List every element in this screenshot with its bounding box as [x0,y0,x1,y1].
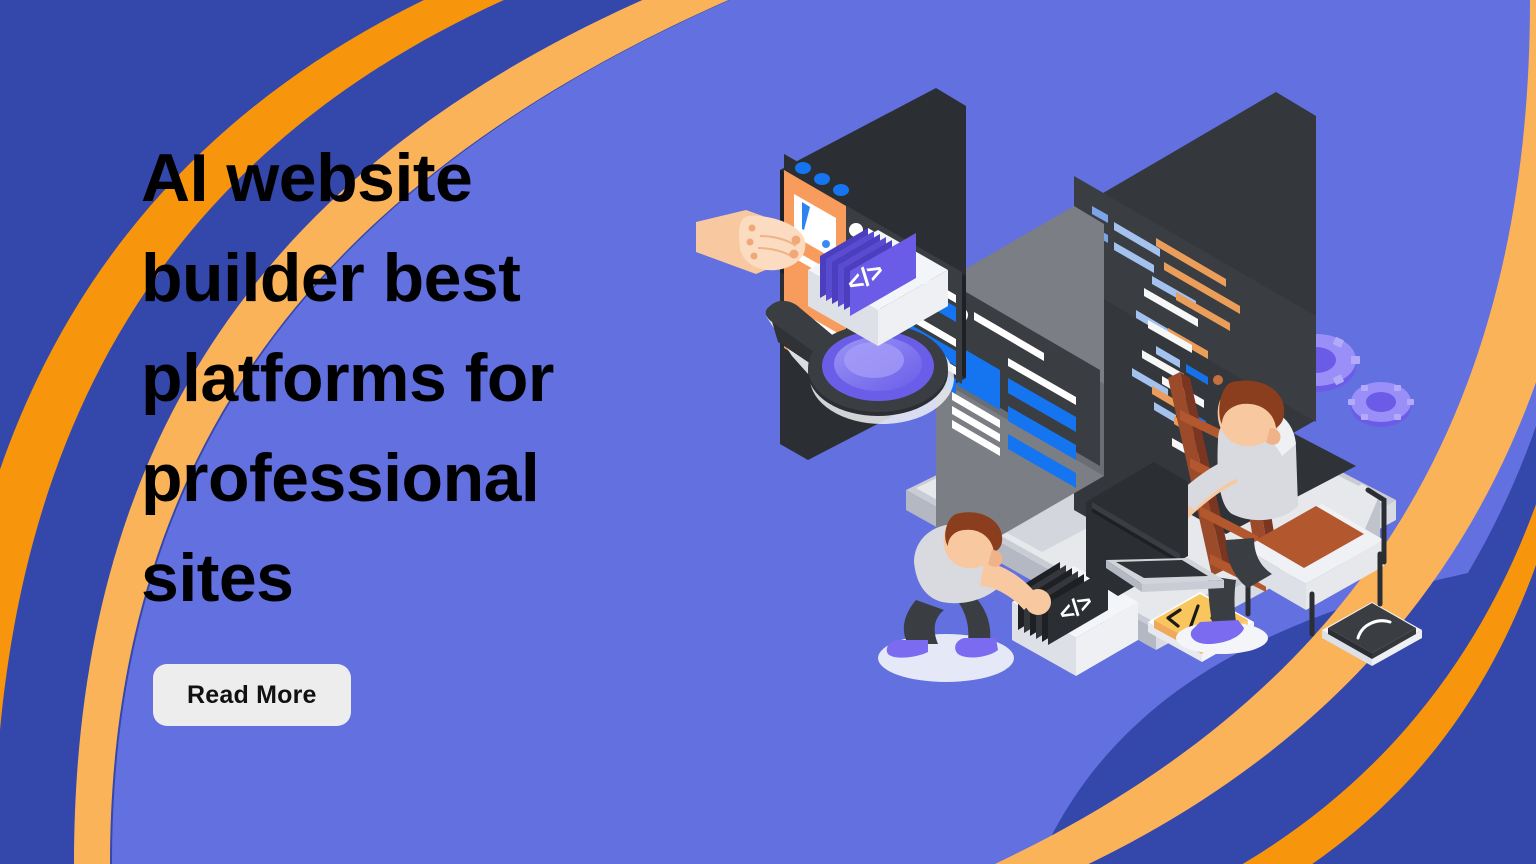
notebook-tile-icon [1322,602,1422,666]
read-more-button[interactable]: Read More [153,664,351,726]
hero-illustration: </> [756,110,1456,710]
page-title: AI website builder best platforms for pr… [141,128,701,628]
promo-banner: AI website builder best platforms for pr… [0,0,1536,864]
text-column: AI website builder best platforms for pr… [141,128,701,726]
